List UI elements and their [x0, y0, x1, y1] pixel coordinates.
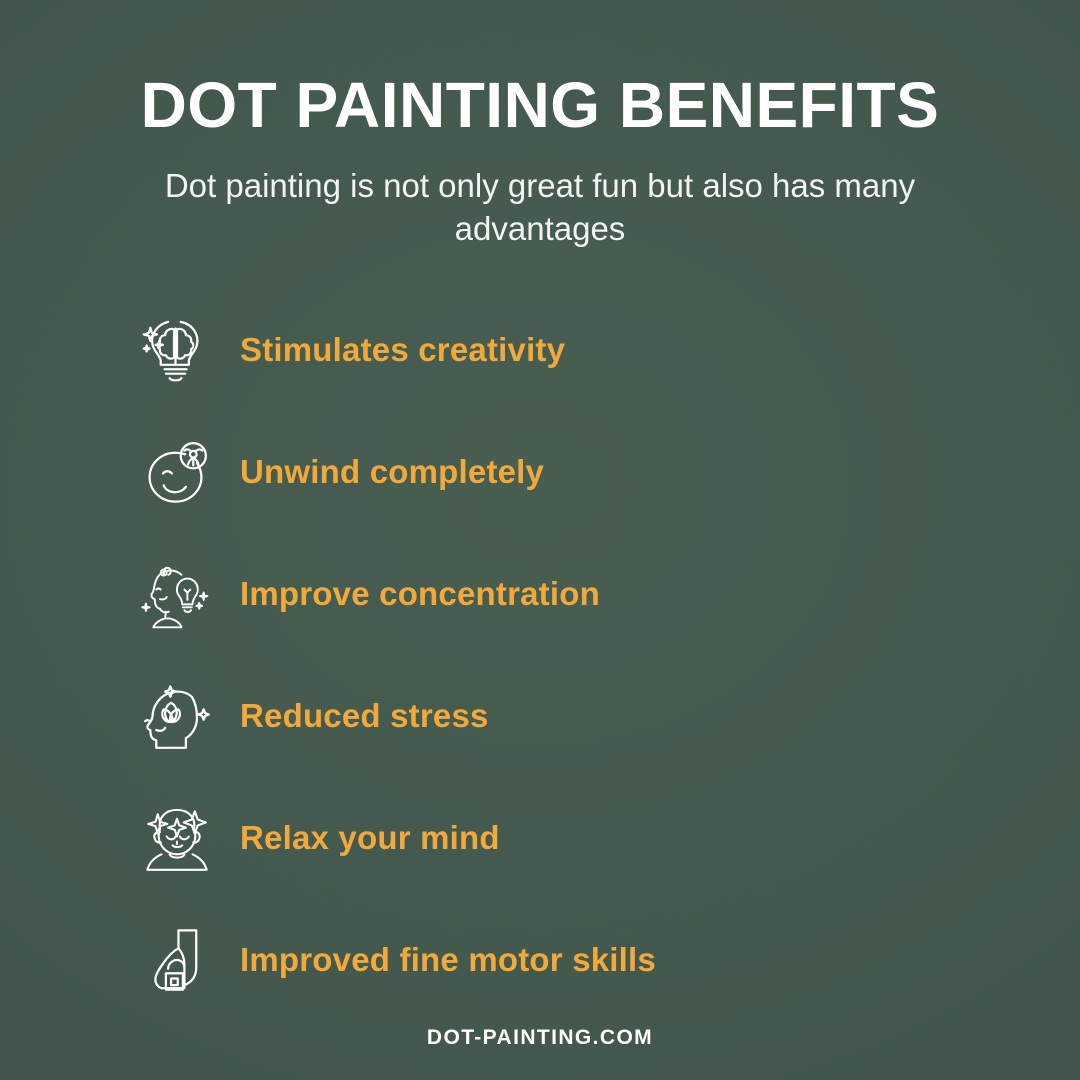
- list-item-label: Reduced stress: [240, 697, 489, 735]
- brain-lightbulb-icon: [138, 311, 216, 389]
- head-profile-lightbulb-icon: [138, 555, 216, 633]
- list-item: Improve concentration: [138, 533, 1080, 655]
- list-item-label: Improved fine motor skills: [240, 941, 656, 979]
- smiling-face-flower-icon: [138, 433, 216, 511]
- list-item: Improved fine motor skills: [138, 899, 1080, 1021]
- head-profile-lotus-icon: [138, 677, 216, 755]
- relaxed-face-sparkles-icon: [138, 799, 216, 877]
- footer-website: DOT-PAINTING.COM: [0, 1026, 1080, 1050]
- benefits-list: Stimulates creativity Unwind complet: [0, 289, 1080, 1021]
- page-title: DOT PAINTING BENEFITS: [0, 72, 1080, 139]
- list-item: Stimulates creativity: [138, 289, 1080, 411]
- list-item: Relax your mind: [138, 777, 1080, 899]
- list-item: Unwind completely: [138, 411, 1080, 533]
- list-item-label: Relax your mind: [240, 819, 500, 857]
- list-item-label: Improve concentration: [240, 575, 600, 613]
- list-item-label: Unwind completely: [240, 453, 544, 491]
- list-item-label: Stimulates creativity: [240, 331, 565, 369]
- page-subtitle: Dot painting is not only great fun but a…: [140, 165, 940, 251]
- poster-canvas: DOT PAINTING BENEFITS Dot painting is no…: [0, 0, 1080, 1080]
- list-item: Reduced stress: [138, 655, 1080, 777]
- hand-holding-object-icon: [138, 921, 216, 999]
